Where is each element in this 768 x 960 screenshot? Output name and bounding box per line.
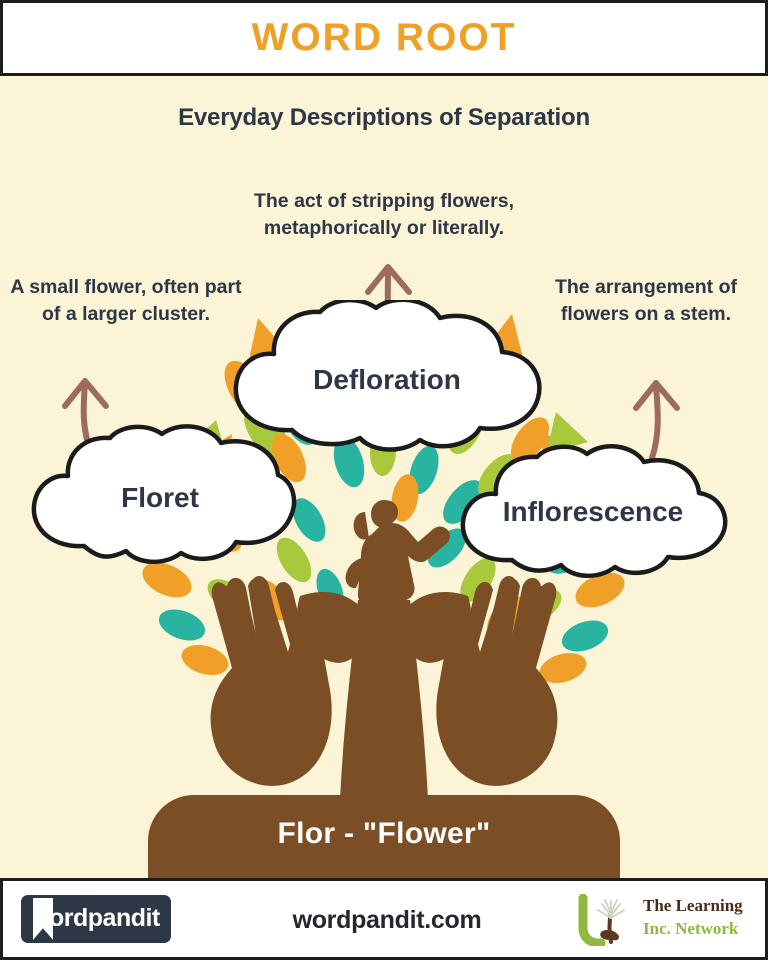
cloud-label-defloration: Defloration <box>222 364 552 396</box>
cloud-floret[interactable]: Floret <box>22 424 298 574</box>
cloud-label-floret: Floret <box>22 482 298 514</box>
root-label: Flor - "Flower" <box>148 817 620 851</box>
root-banner: Flor - "Flower" <box>148 795 620 878</box>
partner-name-line2: Inc. Network <box>643 919 738 939</box>
partner-logo[interactable]: The Learning Inc. Network <box>571 894 747 946</box>
footer-bar: ordpandit wordpandit.com The Learning In… <box>0 878 768 960</box>
callout-floret-text: A small flower, often part of a larger c… <box>0 274 252 327</box>
partner-name-line1: The Learning <box>643 896 743 916</box>
callout-defloration-text: The act of stripping flowers, metaphoric… <box>184 188 584 241</box>
cloud-label-inflorescence: Inflorescence <box>452 496 734 528</box>
callout-inflorescence-text: The arrangement of flowers on a stem. <box>524 274 768 327</box>
cloud-inflorescence[interactable]: Inflorescence <box>452 444 734 586</box>
infographic-poster: WORD ROOT Everyday Descriptions of Separ… <box>0 0 768 960</box>
partner-tree-icon <box>571 894 639 946</box>
